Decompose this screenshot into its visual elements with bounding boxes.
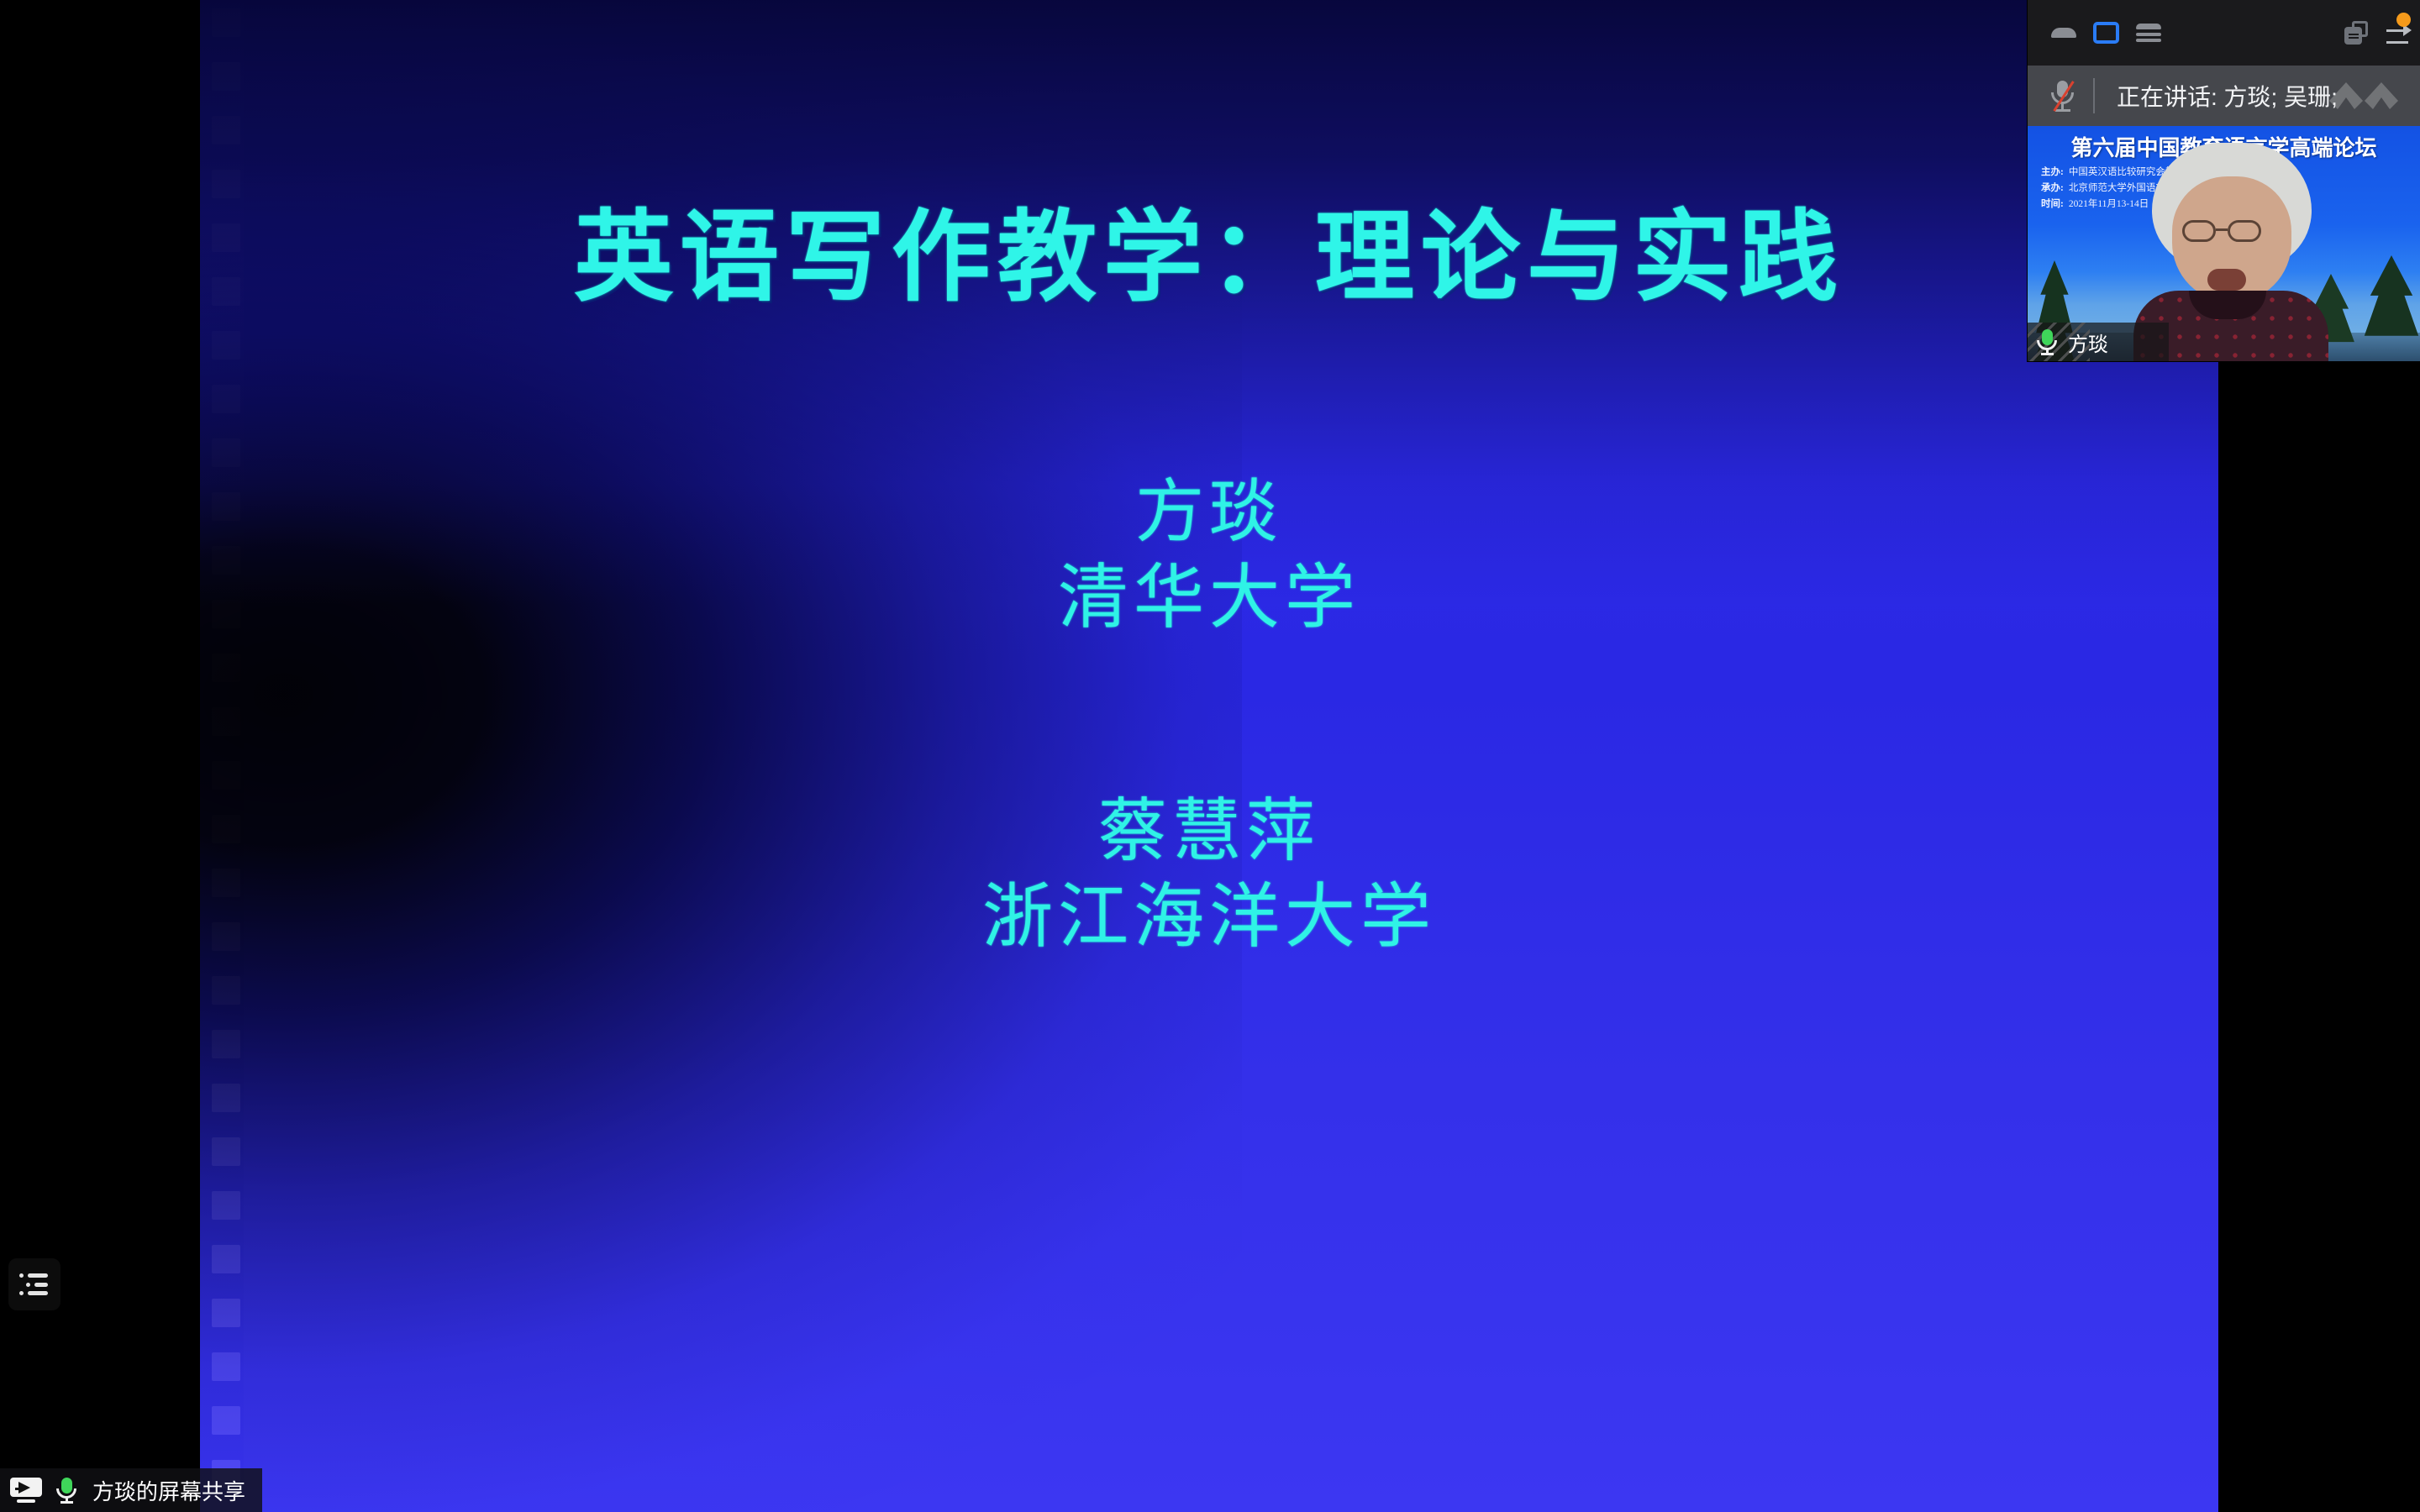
presenter-name: 方琰 <box>200 470 2218 554</box>
swap-share-icon[interactable] <box>2344 21 2368 45</box>
speaking-status-bar: 正在讲话: 方琰; 吴珊; <box>2028 66 2420 126</box>
notification-dot <box>2396 13 2411 27</box>
presenter-affiliation: 浙江海洋大学 <box>200 874 2218 959</box>
detail-label: 承办: <box>2041 183 2064 193</box>
outline-list-icon <box>19 1273 50 1295</box>
exit-arrow-icon[interactable] <box>2386 20 2412 45</box>
screen-share-icon <box>10 1478 42 1503</box>
screen-share-taskbar[interactable]: 方琰的屏幕共享 <box>0 1468 262 1512</box>
divider <box>2093 78 2095 113</box>
speaking-status-text: 正在讲话: 方琰; 吴珊; <box>2117 79 2338 113</box>
slide-text-layer: 英语写作教学：理论与实践 方琰 清华大学 蔡慧萍 浙江海洋大学 <box>200 0 2218 1512</box>
toolbar-left-group <box>2051 22 2161 44</box>
zoom-watermark <box>2323 72 2415 119</box>
window-restore-icon[interactable] <box>2093 22 2119 44</box>
slide-outline-button[interactable] <box>8 1258 60 1310</box>
list-view-icon[interactable] <box>2136 24 2161 42</box>
detail-label: 主办: <box>2041 167 2064 177</box>
zoom-panel-toolbar <box>2028 0 2420 66</box>
presenter-name: 蔡慧萍 <box>200 790 2218 874</box>
presenter-block-1: 方琰 清华大学 <box>200 470 2218 641</box>
presenter-affiliation: 清华大学 <box>200 554 2218 640</box>
mic-muted-icon[interactable] <box>2048 79 2078 113</box>
toolbar-right-group <box>2344 0 2412 66</box>
screen-root: 英语写作教学：理论与实践 方琰 清华大学 蔡慧萍 浙江海洋大学 <box>0 0 2420 1512</box>
presenter-block-2: 蔡慧萍 浙江海洋大学 <box>200 790 2218 960</box>
participant-video-tile[interactable]: 第六届中国教育语言学高端论坛 主办:中国英汉语比较研究会教育语言学专业委员会 承… <box>2028 126 2420 361</box>
participant-name: 方琰 <box>2068 328 2108 357</box>
detail-label: 时间: <box>2041 199 2064 209</box>
slide-title: 英语写作教学：理论与实践 <box>200 176 2218 320</box>
zoom-floating-video-panel[interactable]: 正在讲话: 方琰; 吴珊; 第六届中国教育语言学高端论坛 主办:中国英汉语比较研… <box>2028 0 2420 361</box>
participant-name-badge: 方琰 <box>2028 323 2169 361</box>
shared-slide: 英语写作教学：理论与实践 方琰 清华大学 蔡慧萍 浙江海洋大学 <box>200 0 2218 1512</box>
screen-share-label: 方琰的屏幕共享 <box>92 1475 245 1506</box>
mic-active-icon[interactable] <box>55 1477 77 1504</box>
mic-active-icon[interactable] <box>2036 328 2058 355</box>
minimize-icon[interactable] <box>2051 28 2076 38</box>
